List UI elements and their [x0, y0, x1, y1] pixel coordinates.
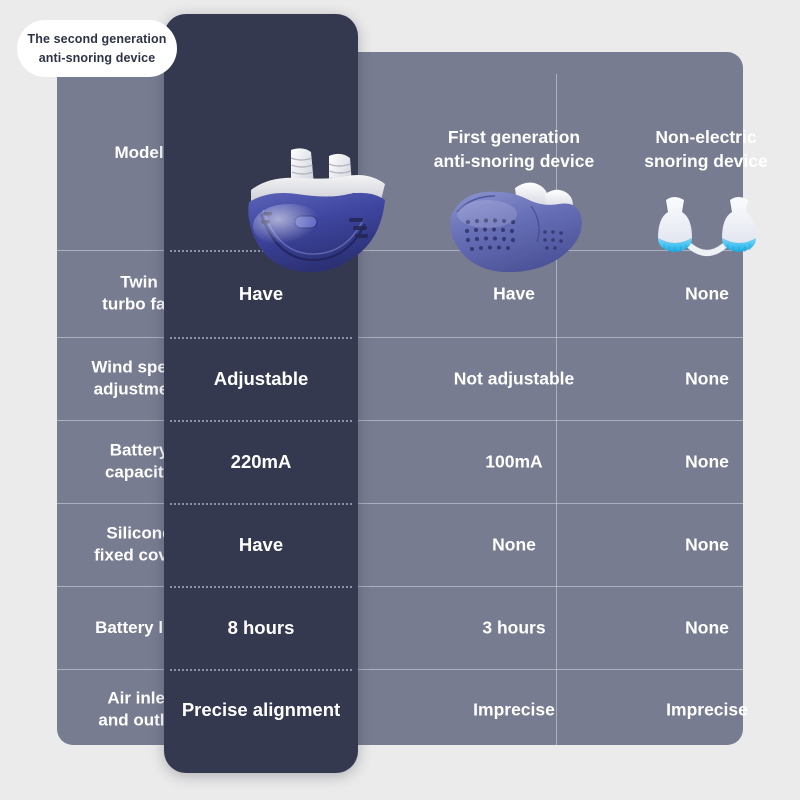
column-header-line2: snoring device	[617, 150, 795, 174]
cell-gen2-battery-capacity: 220mA	[164, 450, 358, 474]
featured-row-divider	[170, 420, 352, 422]
cell-gen1-wind-speed: Not adjustable	[415, 368, 613, 391]
cell-gen1-twin-turbo-fan: Have	[415, 283, 613, 306]
row-divider	[57, 420, 743, 421]
silicone-nose-plugs-image	[640, 184, 774, 276]
featured-row-divider	[170, 503, 352, 505]
featured-badge-line2: anti-snoring device	[28, 49, 167, 67]
cell-gen2-air-inlet: Precise alignment	[164, 698, 358, 722]
column-header-non-electric: Non-electric snoring device	[617, 126, 795, 173]
cell-gen1-battery-life: 3 hours	[415, 617, 613, 640]
row-divider	[57, 669, 743, 670]
featured-row-divider	[170, 669, 352, 671]
column-header-line1: First generation	[419, 126, 609, 150]
column-header-line2: anti-snoring device	[419, 150, 609, 174]
featured-column-second-generation[interactable]	[164, 14, 358, 773]
cell-nonelectric-battery-capacity: None	[614, 451, 800, 474]
cell-gen1-battery-capacity: 100mA	[415, 451, 613, 474]
cell-nonelectric-twin-turbo-fan: None	[614, 283, 800, 306]
row-divider	[57, 586, 743, 587]
cell-nonelectric-battery-life: None	[614, 617, 800, 640]
featured-row-divider	[170, 586, 352, 588]
column-header-line1: Non-electric	[617, 126, 795, 150]
blue-vented-snoring-device-image	[441, 172, 589, 278]
cell-nonelectric-wind-speed: None	[614, 368, 800, 391]
blue-anti-snoring-device-image	[233, 144, 403, 272]
cell-nonelectric-air-inlet: Imprecise	[614, 699, 800, 722]
cell-gen2-battery-life: 8 hours	[164, 616, 358, 640]
cell-gen2-twin-turbo-fan: Have	[164, 282, 358, 306]
featured-badge-title: The second generation anti-snoring devic…	[17, 20, 177, 77]
cell-nonelectric-silicone-cover: None	[614, 534, 800, 557]
row-divider	[57, 503, 743, 504]
cell-gen1-silicone-cover: None	[415, 534, 613, 557]
column-header-first-generation: First generation anti-snoring device	[419, 126, 609, 173]
cell-gen1-air-inlet: Imprecise	[415, 699, 613, 722]
featured-row-divider	[170, 337, 352, 339]
cell-gen2-wind-speed: Adjustable	[164, 367, 358, 391]
row-divider	[57, 337, 743, 338]
cell-gen2-silicone-cover: Have	[164, 533, 358, 557]
comparison-table-card: First generation anti-snoring device Non…	[57, 52, 743, 745]
featured-badge-line1: The second generation	[28, 30, 167, 48]
